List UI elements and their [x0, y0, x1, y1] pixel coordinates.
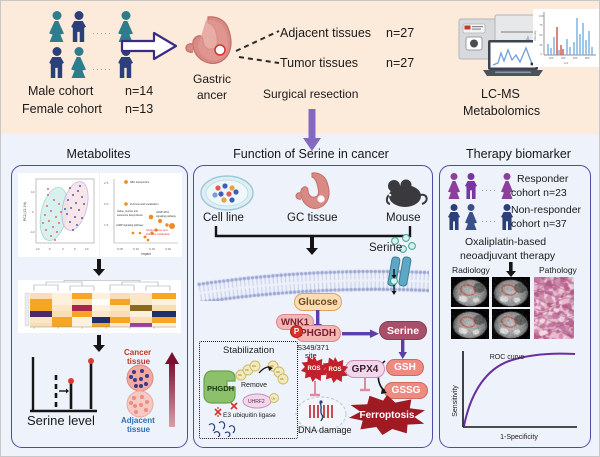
adjacent-tissues-label: Adjacent tissues [280, 26, 371, 40]
gc-tissue-label: GC tissue [287, 212, 338, 224]
gssg-node: GSSG [384, 382, 428, 399]
person-male-icon [447, 204, 461, 230]
pca-to-heatmap-arrow [92, 259, 106, 277]
male-cohort-label: Male cohort [28, 84, 93, 98]
tissue-pointer-lines [229, 23, 281, 69]
svg-text:0.10: 0.10 [133, 247, 139, 251]
dna-damage-label: DNA damage [298, 425, 352, 435]
surgical-resection-label: Surgical resection [263, 87, 358, 101]
cell-line-label: Cell line [203, 212, 244, 224]
graphical-abstract-figure: ····· ····· Male cohort n=14 Female coho… [0, 0, 600, 457]
cell-line-icon [199, 173, 255, 213]
adjacent-tissue-label-l2: tissue [127, 425, 150, 434]
cancer-tissue-label-l2: tissue [127, 357, 150, 366]
gc-tissue-icon [294, 171, 340, 213]
adjacent-tissues-n: n=27 [386, 26, 414, 40]
svg-text:isoleucine biosynthesis: isoleucine biosynthesis [117, 214, 143, 217]
svg-text:0: 0 [32, 210, 34, 214]
svg-text:-10: -10 [35, 247, 40, 251]
ellipsis-dots: ····· [92, 64, 112, 78]
heatmap-to-serine-arrow [92, 335, 106, 353]
lcms-label-line1: LC-MS [481, 87, 520, 101]
phgdh-to-serine-arrow [342, 328, 380, 340]
svg-text:Ub: Ub [252, 364, 256, 368]
nonresponder-people-row: ···· [447, 204, 514, 230]
gsh-node: GSH [386, 359, 424, 376]
svg-text:Valine, leucine and: Valine, leucine and [117, 210, 139, 213]
phgdh-stabilization-diagram: PHGDH UbUbUb UbUbUb Remove UHRF2 Ub E3 u… [201, 357, 296, 437]
lcms-label-line2: Metabolomics [463, 104, 540, 118]
therapy-label-line1: Oxaliplatin-based [465, 236, 546, 248]
nonresponder-label-line2: cohort n=37 [511, 218, 567, 230]
person-male-icon [48, 47, 65, 78]
svg-text:Ub: Ub [280, 377, 284, 381]
svg-text:-5: -5 [48, 247, 51, 251]
serine-level-label: Serine level [27, 413, 95, 428]
ct-scan-image-4 [492, 309, 530, 339]
organ-label-line2: ancer [197, 88, 227, 102]
svg-text:ROC curve: ROC curve [490, 354, 525, 361]
ellipsis-dots: ···· [481, 185, 497, 199]
svg-text:5: 5 [74, 247, 76, 251]
svg-text:Ub: Ub [276, 370, 280, 374]
svg-text:Ub: Ub [245, 368, 249, 372]
person-male-icon [464, 173, 478, 199]
svg-text:10: 10 [85, 247, 89, 251]
ct-scan-image-3 [451, 309, 489, 339]
phospho-badge: P [290, 325, 303, 338]
svg-text:600: 600 [573, 56, 578, 60]
roc-curve-plot: ROC curve Sensitivity 1-Specificity [449, 345, 584, 443]
svg-text:signaling pathway: signaling pathway [156, 215, 177, 218]
nonresponder-label-line1: Non-responder [511, 204, 581, 216]
glucose-node: Glucose [294, 293, 342, 311]
pca-plot-card: -10-5 0510 100-10 PC2 (12.1%) [18, 173, 99, 257]
svg-text:PC2 (12.1%): PC2 (12.1%) [23, 202, 27, 221]
responder-label-line2: cohort n=23 [511, 187, 567, 199]
svg-text:10: 10 [31, 190, 35, 194]
svg-text:100: 100 [539, 14, 544, 18]
svg-text:1-Specificity: 1-Specificity [500, 434, 538, 441]
svg-text:m/z: m/z [564, 61, 569, 65]
svg-text:PHGDH: PHGDH [207, 384, 234, 393]
svg-text:200: 200 [549, 56, 554, 60]
responder-people-row: ···· [447, 173, 514, 199]
tumor-tissues-n: n=27 [386, 56, 414, 70]
mouse-icon [384, 176, 430, 212]
svg-text:800: 800 [585, 56, 590, 60]
cohort-to-organ-arrow [120, 31, 178, 61]
svg-text:Ub: Ub [272, 397, 276, 401]
svg-text:D-Amino acid metabolism: D-Amino acid metabolism [130, 203, 158, 206]
right-panel-title: Therapy biomarker [441, 147, 596, 161]
female-cohort-n: n=13 [125, 102, 153, 116]
svg-text:E3 ubiquitin ligase: E3 ubiquitin ligase [223, 412, 276, 419]
svg-text:threonine metabolism: threonine metabolism [146, 233, 170, 236]
person-female-icon [447, 173, 461, 199]
svg-text:Remove: Remove [241, 382, 267, 389]
female-cohort-label: Female cohort [22, 102, 102, 116]
therapy-down-arrow [504, 262, 518, 278]
pathway-impact-plot-card: 2.52.01.5 0.050.10 0.150.20 Impact ABC t… [100, 173, 182, 257]
mouse-label: Mouse [386, 212, 421, 224]
svg-text:UHRF2: UHRF2 [248, 399, 265, 405]
serine-increase-arrow [164, 351, 180, 429]
ellipsis-dots: ····· [92, 28, 112, 42]
svg-text:0.20: 0.20 [165, 247, 171, 251]
svg-text:2.5: 2.5 [104, 181, 109, 185]
pathology-image [534, 277, 574, 339]
radiology-label: Radiology [452, 265, 490, 275]
svg-text:2.0: 2.0 [104, 202, 109, 206]
metabolite-heatmap-card [18, 280, 181, 333]
left-panel-title: Metabolites [11, 147, 186, 161]
svg-text:0: 0 [62, 247, 64, 251]
svg-text:Intensity: Intensity [533, 30, 537, 41]
serine-membrane-label: Serine [369, 242, 402, 254]
svg-text:cAMP signaling pathway: cAMP signaling pathway [116, 224, 144, 227]
svg-text:1.5: 1.5 [104, 223, 109, 227]
adjacent-tissue-label-l1: Adjacent [121, 416, 155, 425]
svg-text:0.15: 0.15 [149, 247, 155, 251]
person-female-icon [70, 47, 87, 78]
mass-spectrum-plot: 10075 50250 200400 600800 Intensity m/z [533, 9, 599, 67]
pathology-label: Pathology [539, 265, 577, 275]
svg-text:Impact: Impact [141, 252, 151, 256]
cancer-tissue-label-l1: Cancer [124, 348, 151, 357]
svg-text:-10: -10 [30, 230, 35, 234]
person-female-icon [48, 11, 65, 42]
gpx4-node: GPX4 [345, 360, 385, 378]
person-female-icon [464, 204, 478, 230]
center-panel-title: Function of Serine in cancer [191, 147, 431, 161]
organ-label-line1: Gastric [193, 72, 231, 86]
svg-text:cGMP-PKG: cGMP-PKG [156, 211, 169, 214]
svg-text:Glycine, serine and: Glycine, serine and [146, 229, 168, 232]
svg-text:400: 400 [561, 56, 566, 60]
therapy-label-line2: neoadjuvant therapy [460, 250, 555, 262]
stabilization-title: Stabilization [223, 345, 274, 356]
male-cohort-n: n=14 [125, 84, 153, 98]
serine-to-gsh-arrow [396, 339, 410, 361]
svg-text:Ub: Ub [238, 373, 242, 377]
svg-text:0.05: 0.05 [117, 247, 123, 251]
ellipsis-dots: ···· [481, 216, 497, 230]
serine-node: Serine [379, 321, 427, 340]
ct-scan-image-2 [492, 277, 530, 307]
svg-text:ABC transporters: ABC transporters [130, 181, 150, 184]
svg-text:Sensitivity: Sensitivity [452, 385, 459, 417]
person-male-icon [70, 11, 87, 42]
responder-label-line1: Responder [517, 173, 568, 185]
tumor-tissues-label: Tumor tissues [280, 56, 358, 70]
ct-scan-image-1 [451, 277, 489, 307]
gpx4-inhibits-ferroptosis [358, 378, 372, 394]
